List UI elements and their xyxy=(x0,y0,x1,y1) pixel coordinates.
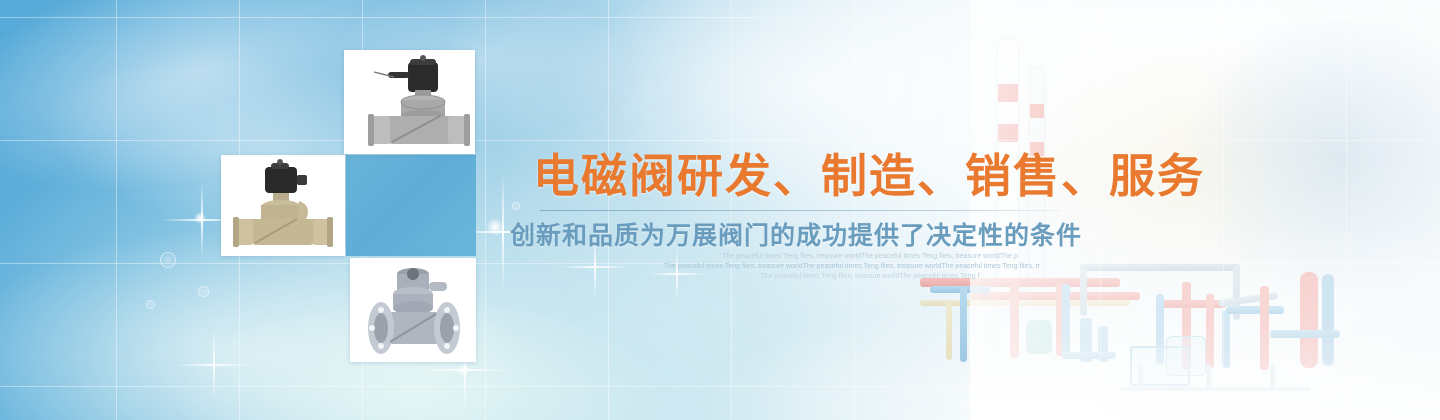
page-subtitle: 创新和品质为万展阀门的成功提供了决定性的条件 xyxy=(510,222,1110,251)
title-divider xyxy=(540,210,1060,211)
product-thumbnail-1[interactable] xyxy=(344,50,475,154)
filler-line-3: The peaceful times Teng flies, treasure … xyxy=(640,272,1100,282)
product-thumbnail-2[interactable] xyxy=(221,155,345,256)
hero-banner: 电磁阀研发、制造、销售、服务 创新和品质为万展阀门的成功提供了决定性的条件 Th… xyxy=(0,0,1440,420)
product-thumbnail-3[interactable] xyxy=(350,258,476,362)
accent-square-panel xyxy=(346,155,476,256)
solenoid-valve-flanged-icon xyxy=(350,258,476,362)
solenoid-valve-threaded-inline-icon xyxy=(344,50,475,154)
page-title: 电磁阀研发、制造、销售、服务 xyxy=(533,152,1093,201)
filler-line-1: The peaceful times Teng flies, treasure … xyxy=(640,252,1100,262)
filler-text-block: The peaceful times Teng flies, treasure … xyxy=(640,252,1100,282)
solenoid-valve-brass-inline-icon xyxy=(221,155,345,256)
filler-line-2: The peaceful times Teng flies, treasure … xyxy=(622,262,1082,272)
